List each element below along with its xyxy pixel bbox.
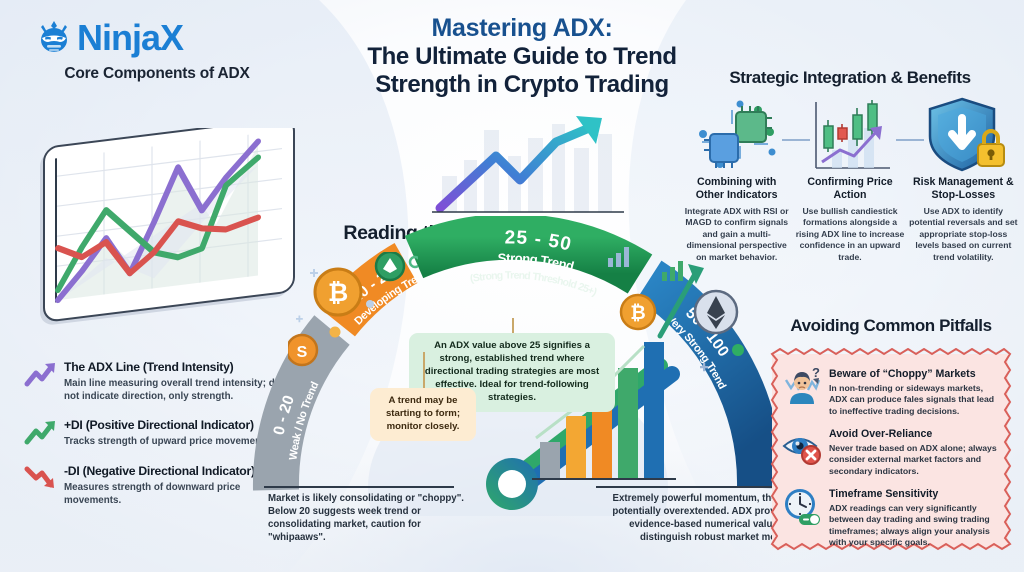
strategic-heading: Strategic Integration & Benefits bbox=[682, 68, 1018, 88]
strategic-card-risk: Risk Management & Stop-Losses Use ADX to… bbox=[909, 176, 1018, 263]
pitfall-title: Timeframe Sensitivity bbox=[829, 488, 938, 500]
legend-title: The ADX Line (Trend Intensity) bbox=[64, 360, 233, 374]
brand-logo-row: NinjaX bbox=[34, 18, 284, 58]
infographic-canvas: NinjaX Core Components of ADX Mastering … bbox=[0, 0, 1024, 572]
page-title-line2: The Ultimate Guide to Trend bbox=[336, 43, 708, 71]
caption-left-rule bbox=[264, 486, 454, 488]
pitfall-title: Beware of “Choppy” Markets bbox=[829, 368, 976, 380]
page-title-line1: Mastering ADX: bbox=[336, 14, 708, 43]
brand-subtitle: Core Components of ADX bbox=[34, 65, 280, 83]
pitfall-item-timeframe: Timeframe Sensitivity ADX readings can v… bbox=[782, 484, 998, 548]
callout-developing-trend: A trend may be starting to form; monitor… bbox=[370, 388, 476, 441]
ninja-mask-icon bbox=[34, 18, 74, 58]
pitfalls-heading: Avoiding Common Pitfalls bbox=[762, 316, 1020, 336]
clock-toggle-icon bbox=[782, 486, 822, 526]
pitfalls-box: ? Beware of “Choppy” Markets In non-tren… bbox=[766, 348, 1014, 554]
strategic-card-title: Risk Management & Stop-Losses bbox=[909, 176, 1018, 202]
hero-growth-chart-illustration bbox=[424, 104, 654, 226]
crypto-coins-decoration: ₿ S bbox=[288, 252, 418, 382]
purple-up-arrow-icon bbox=[24, 360, 58, 388]
pitfall-desc: ADX readings can very significantly betw… bbox=[829, 503, 998, 548]
legend-title: +DI (Positive Directional Indicator) bbox=[64, 418, 254, 432]
strategic-card-desc: Use ADX to identify potential reversals … bbox=[909, 206, 1018, 264]
pitfall-text-over-reliance: Avoid Over-Reliance Never trade based on… bbox=[829, 424, 998, 477]
strategic-card-title: Combining with Other Indicators bbox=[682, 176, 791, 202]
strategic-card-title: Confirming Price Action bbox=[795, 176, 904, 202]
callout-orange-connector bbox=[423, 352, 425, 390]
pitfall-desc: In non-trending or sideways markets, ADX… bbox=[829, 383, 998, 417]
brand-name-text: NinjaX bbox=[77, 17, 183, 58]
pitfall-item-choppy: ? Beware of “Choppy” Markets In non-tren… bbox=[782, 364, 998, 417]
pitfall-text-choppy: Beware of “Choppy” Markets In non-trendi… bbox=[829, 364, 998, 417]
page-title: Mastering ADX: The Ultimate Guide to Tre… bbox=[336, 14, 708, 99]
svg-text:S: S bbox=[297, 344, 308, 361]
strategic-connectors bbox=[682, 96, 1018, 174]
pitfall-item-over-reliance: Avoid Over-Reliance Never trade based on… bbox=[782, 424, 998, 477]
gauge-caption-left: Market is likely consolidating or "chopp… bbox=[268, 492, 473, 544]
pitfall-title: Avoid Over-Reliance bbox=[829, 428, 932, 440]
ethereum-coin-decoration bbox=[686, 282, 762, 392]
red-down-arrow-icon bbox=[24, 464, 58, 492]
page-title-line3: Strength in Crypto Trading bbox=[336, 71, 708, 99]
strategic-card-confirming: Confirming Price Action Use bullish cand… bbox=[795, 176, 904, 263]
strategic-card-desc: Integrate ADX with RSI or MAGD to confir… bbox=[682, 206, 791, 264]
eye-with-x-icon bbox=[782, 426, 822, 466]
strategic-card-desc: Use bullish candiestick formations along… bbox=[795, 206, 904, 264]
strategic-cards: Combining with Other Indicators Integrat… bbox=[682, 176, 1018, 263]
brand-logo-block: NinjaX Core Components of ADX bbox=[34, 18, 284, 83]
green-up-arrow-icon bbox=[24, 418, 58, 446]
legend-title: -DI (Negative Directional Indicator) bbox=[64, 464, 255, 478]
strategic-integration-section: Strategic Integration & Benefits bbox=[682, 68, 1018, 263]
brand-name: NinjaX bbox=[77, 20, 183, 56]
strategic-card-combining: Combining with Other Indicators Integrat… bbox=[682, 176, 791, 263]
svg-text:₿: ₿ bbox=[328, 279, 348, 307]
svg-text:?: ? bbox=[812, 366, 820, 380]
pitfalls-list: ? Beware of “Choppy” Markets In non-tren… bbox=[774, 355, 1006, 547]
pitfall-desc: Never trade based on ADX alone; always c… bbox=[829, 443, 998, 477]
gauge-label-strong-sub: (Strong Trend Threshold 25+) bbox=[469, 269, 599, 298]
svg-text:₿: ₿ bbox=[630, 303, 645, 324]
confused-person-icon: ? bbox=[782, 366, 822, 406]
strategic-icon-row bbox=[682, 96, 1018, 174]
mini-bars-icon-2 bbox=[606, 244, 632, 268]
pitfall-text-timeframe: Timeframe Sensitivity ADX readings can v… bbox=[829, 484, 998, 548]
caption-right-rule bbox=[596, 486, 792, 488]
